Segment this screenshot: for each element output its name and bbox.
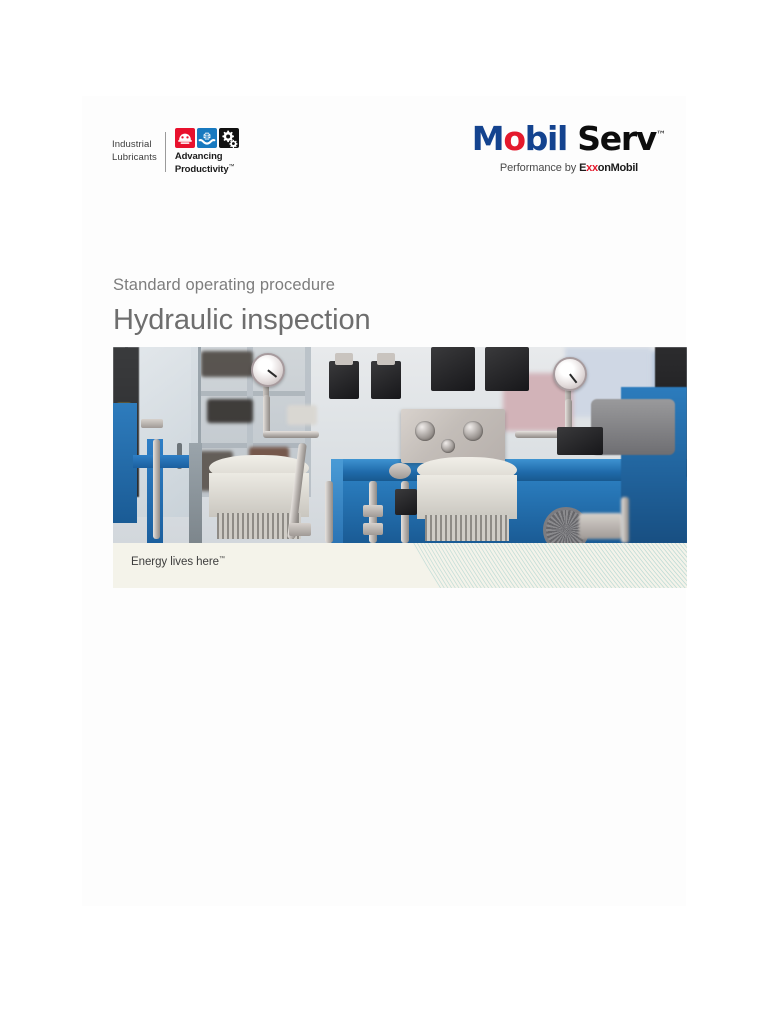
photo-solenoid-coil bbox=[335, 353, 353, 365]
photo-solenoid-valve bbox=[371, 361, 401, 399]
photo-stainless-manifold-block bbox=[401, 409, 505, 463]
photo-shelf-item bbox=[207, 399, 253, 423]
mobil-serv-trademark: ™ bbox=[656, 130, 666, 141]
page-title: Hydraulic inspection bbox=[113, 302, 653, 338]
advancing-productivity-label: Advancing Productivity™ bbox=[175, 151, 239, 175]
photo-lower-right-motor bbox=[579, 513, 623, 539]
photo-pipe-fitting bbox=[141, 419, 163, 428]
energy-lives-here-text: Energy lives here™ bbox=[131, 556, 225, 568]
photo-valve-knob bbox=[389, 463, 411, 479]
photo-right-valve-block bbox=[557, 427, 603, 455]
photo-blue-crossbar bbox=[133, 455, 189, 468]
photo-pipe bbox=[263, 395, 270, 435]
photo-motor-body bbox=[417, 475, 517, 519]
industrial-lubricants-line2: Lubricants bbox=[112, 152, 157, 165]
photo-shelf-item bbox=[201, 351, 253, 377]
mobil-word-bil: bil bbox=[525, 119, 567, 158]
energy-tagline: Energy lives here bbox=[131, 556, 219, 568]
photo-pipe-fitting bbox=[289, 523, 311, 536]
advancing-productivity-icon-row bbox=[175, 128, 239, 148]
photo-manifold-port bbox=[463, 421, 483, 441]
photo-pipe-fitting bbox=[363, 505, 383, 517]
hydraulic-power-unit-photo bbox=[113, 347, 687, 543]
photo-solenoid-valve bbox=[329, 361, 359, 399]
serv-word: Serv bbox=[577, 119, 656, 158]
industrial-lubricants-lockup: Industrial Lubricants bbox=[112, 128, 239, 175]
photo-solenoid-valve bbox=[485, 347, 529, 391]
advancing-productivity-lockup: Advancing Productivity™ bbox=[175, 128, 239, 175]
exxon-rest: onMobil bbox=[598, 162, 638, 174]
mobil-serv-tagline: Performance by ExxonMobil bbox=[472, 162, 666, 174]
advancing-productivity-trademark: ™ bbox=[229, 164, 235, 170]
photo-pipe bbox=[263, 431, 319, 438]
photo-fan-motor bbox=[591, 399, 675, 455]
lockup-divider bbox=[165, 132, 166, 172]
photo-electric-motor bbox=[413, 457, 521, 541]
photo-pipe bbox=[621, 497, 629, 543]
tagline-prefix: Performance by bbox=[500, 162, 579, 174]
advancing-productivity-line2: Productivity bbox=[175, 164, 229, 175]
document-page: Industrial Lubricants bbox=[82, 96, 686, 906]
photo-pressure-gauge-right bbox=[553, 357, 587, 391]
environment-hands-globe-icon bbox=[197, 128, 217, 148]
hero-image bbox=[113, 347, 687, 543]
photo-manifold-port bbox=[441, 439, 455, 453]
photo-pipe-fitting bbox=[363, 523, 383, 535]
industrial-lubricants-label: Industrial Lubricants bbox=[112, 139, 165, 164]
mobil-serv-wordmark: Mobil Serv™ bbox=[472, 118, 666, 157]
photo-pipe bbox=[153, 439, 160, 539]
photo-solenoid-coil bbox=[377, 353, 395, 365]
photo-inline-valve bbox=[395, 489, 417, 515]
photo-shelf-item bbox=[287, 405, 317, 425]
photo-manifold-port bbox=[415, 421, 435, 441]
photo-vertical-post bbox=[189, 443, 202, 543]
mobil-serv-logo: Mobil Serv™ Performance by ExxonMobil bbox=[472, 118, 666, 174]
advancing-productivity-line2-wrap: Productivity™ bbox=[175, 162, 239, 175]
mobil-word-m: M bbox=[472, 119, 504, 158]
advancing-productivity-line1: Advancing bbox=[175, 151, 239, 162]
mobil-word-o: o bbox=[503, 119, 524, 158]
industrial-lubricants-line1: Industrial bbox=[112, 139, 157, 152]
energy-lives-here-band: Energy lives here™ bbox=[113, 543, 687, 588]
energy-tagline-trademark: ™ bbox=[219, 556, 225, 562]
document-kicker: Standard operating procedure bbox=[113, 274, 653, 296]
safety-helmet-icon bbox=[175, 128, 195, 148]
gears-productivity-icon bbox=[219, 128, 239, 148]
title-block: Standard operating procedure Hydraulic i… bbox=[113, 274, 653, 338]
photo-solenoid-valve bbox=[431, 347, 475, 391]
photo-motor-cooling-fins bbox=[425, 515, 509, 541]
exxon-double-x: xx bbox=[586, 162, 598, 174]
photo-pipe bbox=[325, 481, 333, 543]
page-header: Industrial Lubricants bbox=[82, 96, 686, 206]
photo-pressure-gauge-left bbox=[251, 353, 285, 387]
exxonmobil-wordmark: ExxonMobil bbox=[579, 162, 638, 174]
